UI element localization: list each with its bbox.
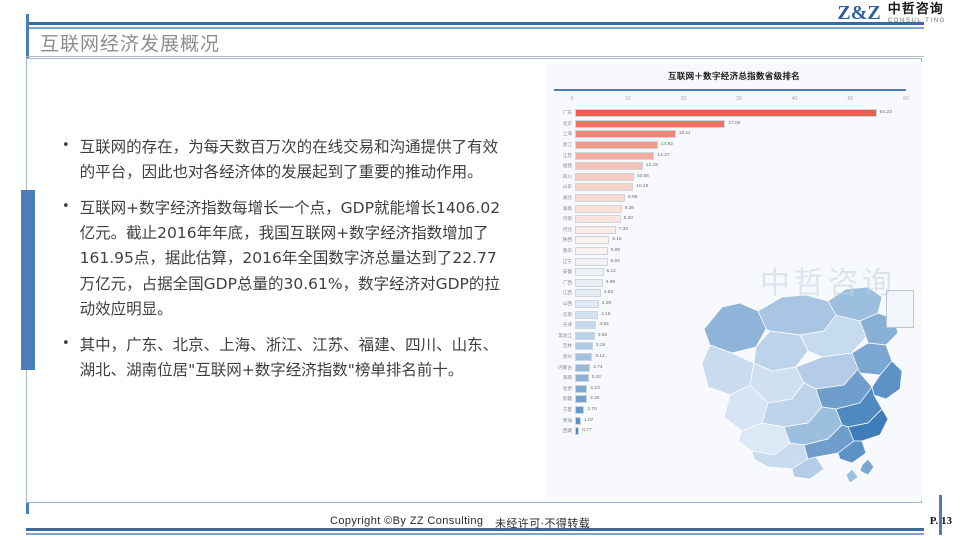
bar-value-label: 4.28	[599, 300, 611, 308]
bar-value-label: 8.38	[622, 205, 634, 213]
chart-top-rule	[554, 89, 906, 91]
bar-value-label: 8.20	[621, 215, 633, 223]
bar	[575, 205, 622, 213]
chart-bar-row: 四川10.56	[546, 172, 922, 183]
bar-value-label: 2.43	[589, 374, 601, 382]
chart-bar-row: 湖北8.99	[546, 193, 922, 204]
copyright-text: Copyright ©By ZZ Consulting	[330, 515, 483, 527]
bar	[575, 332, 595, 340]
bar-category-label: 江苏	[546, 153, 575, 159]
bar-value-label: 3.12	[592, 353, 604, 361]
bar-track: 12.18	[575, 162, 922, 170]
chart-bar-row: 河南8.20	[546, 214, 922, 225]
bar	[575, 194, 625, 202]
bar	[575, 183, 633, 191]
header-rule-top	[26, 22, 924, 25]
bar	[575, 289, 601, 297]
page-number: P. 13	[930, 515, 952, 527]
logo-name-block: 中哲咨询 CONSUL TING	[888, 3, 946, 24]
bullet-text: 互联网的存在，为每天数百万次的在线交易和沟通提供了有效的平台，因此也对各经济体的…	[80, 135, 502, 185]
bar-track: 10.49	[575, 183, 922, 191]
footer-rule-top	[26, 528, 924, 531]
chart-x-axis: 0102030405060	[546, 96, 922, 108]
bar-value-label: 3.56	[595, 332, 607, 340]
bar-category-label: 上海	[546, 131, 575, 137]
bar-value-label: 2.74	[590, 364, 602, 372]
bar	[575, 268, 604, 276]
bar	[575, 311, 598, 319]
bar-value-label: 5.12	[604, 268, 616, 276]
bar-value-label: 3.83	[596, 321, 608, 329]
bar	[575, 226, 616, 234]
bar-value-label: 4.98	[603, 279, 615, 287]
bar-value-label: 0.77	[579, 427, 591, 435]
bar-category-label: 贵州	[546, 354, 575, 360]
bar-value-label: 4.15	[598, 311, 610, 319]
bar-value-label: 54.23	[877, 109, 892, 117]
bar	[575, 236, 609, 244]
brand-logo: Z&Z 中哲咨询 CONSUL TING	[837, 2, 946, 25]
bar	[575, 247, 608, 255]
bar-category-label: 河北	[546, 227, 575, 233]
bar	[575, 141, 658, 149]
bar-category-label: 广西	[546, 280, 575, 286]
bar-category-label: 天津	[546, 322, 575, 328]
bar-track: 8.38	[575, 205, 922, 213]
logo-company-sub: CONSUL TING	[888, 18, 946, 24]
bar	[575, 406, 584, 414]
bar	[575, 364, 590, 372]
chart-bar-row: 湖南8.38	[546, 203, 922, 214]
map-svg	[696, 237, 922, 487]
bullet-dot-icon: •	[62, 333, 70, 383]
bar-category-label: 北京	[546, 121, 575, 127]
bar-category-label: 湖南	[546, 206, 575, 212]
chart-bar-row: 山东10.49	[546, 182, 922, 193]
chart-bar-row: 广东54.23	[546, 108, 922, 119]
bar	[575, 353, 592, 361]
bullet-list: • 互联网的存在，为每天数百万次的在线交易和沟通提供了有效的平台，因此也对各经济…	[62, 135, 502, 394]
bar-category-label: 安徽	[546, 269, 575, 275]
bar	[575, 395, 587, 403]
logo-company-name: 中哲咨询	[888, 3, 946, 16]
bar-value-label: 8.99	[625, 194, 637, 202]
bar-value-label: 10.49	[633, 183, 648, 191]
title-underline	[26, 56, 924, 57]
bar-value-label: 3.19	[593, 342, 605, 350]
bar	[575, 374, 589, 382]
bar-category-label: 辽宁	[546, 259, 575, 265]
bar-value-label: 2.20	[587, 395, 599, 403]
bar-track: 18.11	[575, 130, 922, 138]
bar-track: 7.32	[575, 226, 922, 234]
bar	[575, 385, 587, 393]
bar	[575, 300, 599, 308]
bar-category-label: 浙江	[546, 142, 575, 148]
slide: Z&Z 中哲咨询 CONSUL TING 互联网经济发展概况 • 互联网的存在，…	[0, 0, 960, 540]
bullet-dot-icon: •	[62, 196, 70, 322]
bar-category-label: 山东	[546, 184, 575, 190]
bar-value-label: 1.07	[581, 417, 593, 425]
bar-value-label: 10.56	[634, 173, 649, 181]
chart-title: 互联网＋数字经济总指数省级排名	[546, 70, 922, 82]
bar-value-label: 4.63	[601, 289, 613, 297]
bar-category-label: 江西	[546, 290, 575, 296]
left-accent-tab	[21, 190, 35, 370]
chart-bar-row: 浙江14.92	[546, 140, 922, 151]
bar-value-label: 14.92	[658, 141, 673, 149]
bar-track: 54.23	[575, 109, 922, 117]
bar-value-label: 7.32	[616, 226, 628, 234]
bar-category-label: 四川	[546, 174, 575, 180]
logo-zz-mark: Z&Z	[837, 2, 880, 25]
bar-category-label: 福建	[546, 163, 575, 169]
bar-category-label: 黑龙江	[546, 333, 575, 339]
bar-category-label: 河南	[546, 216, 575, 222]
bar	[575, 173, 634, 181]
bar-category-label: 云南	[546, 312, 575, 318]
bar-track: 27.00	[575, 120, 922, 128]
list-item: • 其中，广东、北京、上海、浙江、江苏、福建、四川、山东、湖北、湖南位居"互联网…	[62, 333, 502, 383]
bar-track: 8.20	[575, 215, 922, 223]
bar-category-label: 陕西	[546, 237, 575, 243]
map-inset-box	[886, 290, 914, 328]
bar-category-label: 新疆	[546, 396, 575, 402]
bar-category-label: 西藏	[546, 428, 575, 434]
bar	[575, 342, 593, 350]
bar-category-label: 广东	[546, 110, 575, 116]
bar-value-label: 5.90	[608, 247, 620, 255]
bar-value-label: 27.00	[725, 120, 740, 128]
bar-track: 10.56	[575, 173, 922, 181]
axis-tick-label: 60	[903, 96, 909, 102]
bar	[575, 152, 654, 160]
bar-value-label: 5.84	[608, 258, 620, 266]
bar	[575, 215, 621, 223]
bar-category-label: 甘肃	[546, 386, 575, 392]
bar	[575, 130, 676, 138]
bar-track: 14.27	[575, 152, 922, 160]
bullet-text: 互联网+数字经济指数每增长一个点，GDP就能增长1406.02亿元。截止2016…	[80, 196, 502, 322]
bar-category-label: 山西	[546, 301, 575, 307]
bar-category-label: 宁夏	[546, 407, 575, 413]
bar-track: 8.99	[575, 194, 922, 202]
reprint-notice: 未经许可·不得转载	[495, 515, 590, 531]
bar-category-label: 湖北	[546, 195, 575, 201]
chart-bar-row: 北京27.00	[546, 119, 922, 130]
bar-category-label: 内蒙古	[546, 365, 575, 371]
bar-track: 14.92	[575, 141, 922, 149]
bar-category-label: 重庆	[546, 248, 575, 254]
bar-category-label: 海南	[546, 375, 575, 381]
bar-value-label: 18.11	[676, 130, 691, 138]
bar-value-label: 14.27	[654, 152, 669, 160]
bar-value-label: 12.18	[643, 162, 658, 170]
page-title: 互联网经济发展概况	[40, 29, 220, 56]
list-item: • 互联网+数字经济指数每增长一个点，GDP就能增长1406.02亿元。截止20…	[62, 196, 502, 322]
bar-value-label: 6.18	[609, 236, 621, 244]
footer-rule-thin	[26, 533, 924, 535]
chart-bar-row: 福建12.18	[546, 161, 922, 172]
axis-tick-label: 40	[792, 96, 798, 102]
bar	[575, 109, 877, 117]
axis-tick-label: 50	[847, 96, 853, 102]
axis-tick-label: 20	[680, 96, 686, 102]
axis-tick-label: 0	[571, 96, 574, 102]
bar-category-label: 吉林	[546, 343, 575, 349]
chart-bar-row: 河北7.32	[546, 225, 922, 236]
bar	[575, 120, 725, 128]
chart-panel: 互联网＋数字经济总指数省级排名 0102030405060 广东54.23北京2…	[546, 62, 922, 500]
chart-bar-row: 上海18.11	[546, 129, 922, 140]
bar	[575, 258, 608, 266]
china-choropleth-map	[696, 237, 922, 487]
bar	[575, 279, 603, 287]
bar-category-label: 青海	[546, 418, 575, 424]
bar-value-label: 1.70	[584, 406, 596, 414]
bullet-dot-icon: •	[62, 135, 70, 185]
bar	[575, 162, 643, 170]
list-item: • 互联网的存在，为每天数百万次的在线交易和沟通提供了有效的平台，因此也对各经济…	[62, 135, 502, 185]
axis-tick-label: 30	[736, 96, 742, 102]
bullet-text: 其中，广东、北京、上海、浙江、江苏、福建、四川、山东、湖北、湖南位居"互联网+数…	[80, 333, 502, 383]
bar-value-label: 2.23	[587, 385, 599, 393]
bar	[575, 321, 596, 329]
chart-bar-row: 江苏14.27	[546, 150, 922, 161]
axis-tick-label: 10	[625, 96, 631, 102]
